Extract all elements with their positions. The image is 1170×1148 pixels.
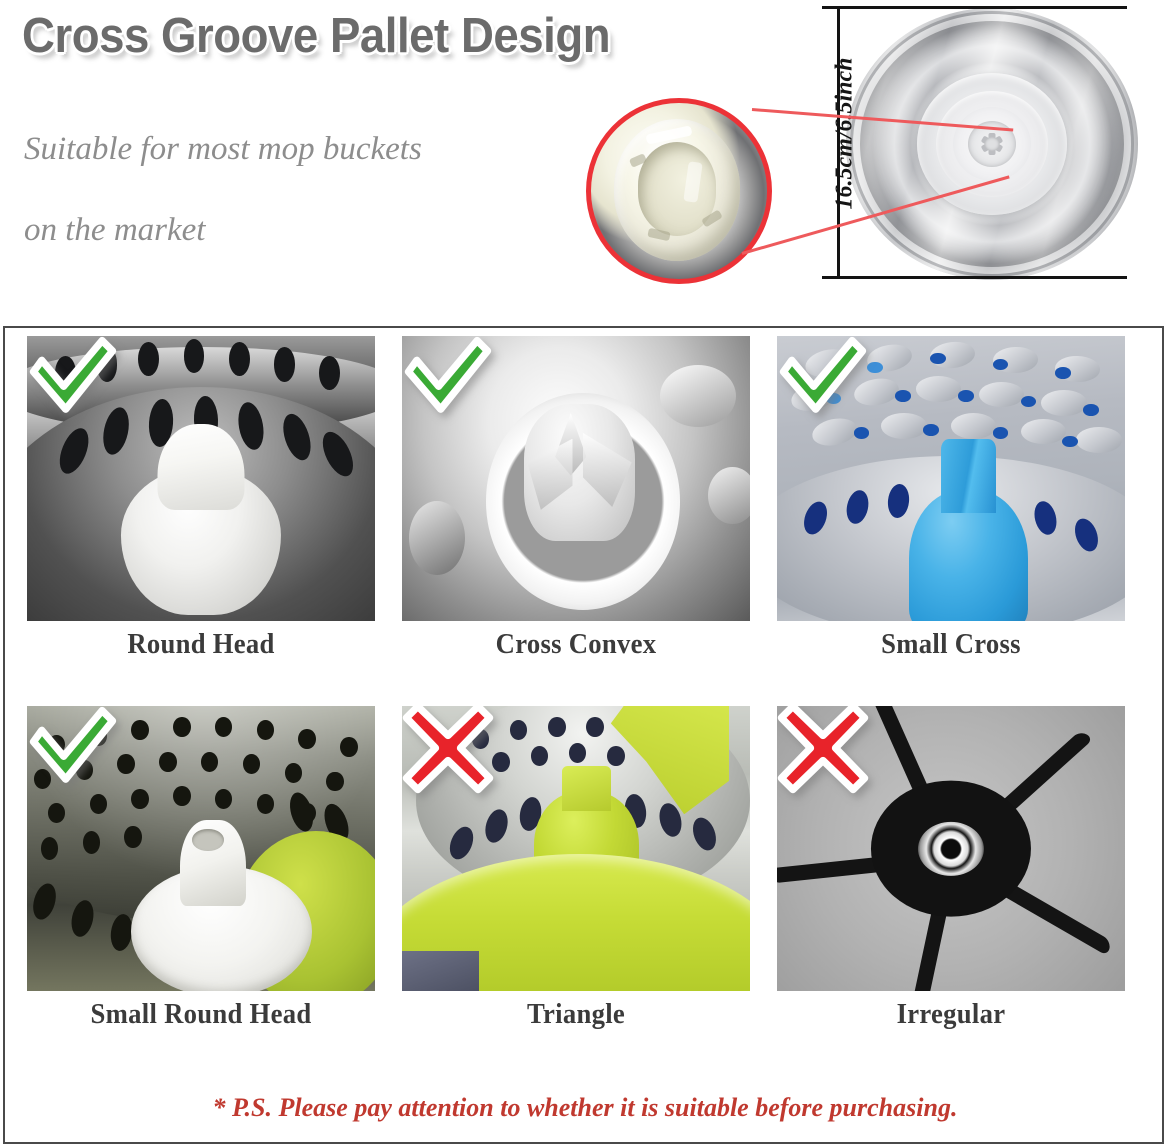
mesh-hole: [124, 826, 141, 849]
cell-label: Round Head: [41, 628, 361, 661]
comparison-cell-cross-convex[interactable]: Cross Convex: [402, 336, 754, 692]
subtitle-line-2: on the market: [24, 212, 205, 249]
bracket-bottom-line: [822, 276, 1127, 279]
mesh-hole: [215, 789, 232, 809]
mesh-hole: [326, 772, 343, 792]
drum-dimple: [881, 413, 926, 439]
cell-label: Small Round Head: [41, 998, 361, 1031]
bracket-top-line: [822, 6, 1127, 9]
drum-hole: [607, 746, 624, 766]
blue-hole: [1083, 404, 1099, 415]
drum-dimple: [979, 382, 1024, 408]
photo-irregular: [777, 706, 1125, 991]
blue-hole: [993, 427, 1009, 438]
triangle-hub-tip: [562, 766, 611, 812]
drum-hole: [548, 717, 565, 737]
comparison-grid: Round Head: [5, 328, 1162, 1068]
photo-cross-convex: [402, 336, 750, 621]
drum-dimple: [708, 467, 750, 524]
magnifier-callout: [586, 98, 772, 284]
drum-dimple: [1041, 390, 1086, 416]
subtitle-line-1: Suitable for most mop buckets: [24, 131, 422, 168]
photo-small-cross: [777, 336, 1125, 621]
drum-hole: [586, 717, 603, 737]
drum-dimple: [951, 413, 996, 439]
mesh-hole: [201, 752, 218, 772]
drum-dimple: [916, 376, 961, 402]
mesh-hole: [173, 717, 190, 737]
bucket-corner: [402, 951, 479, 991]
mesh-hole: [159, 752, 176, 772]
comparison-row: Small Round Head: [5, 698, 1162, 1068]
drum-hole: [138, 342, 159, 376]
cross-icon: [777, 706, 875, 800]
fan-hub-center: [918, 821, 984, 875]
cell-label: Cross Convex: [416, 628, 736, 661]
dimension-bracket: 16.5cm/6.5inch: [820, 0, 1140, 290]
mesh-hole: [285, 763, 302, 783]
header-section: Cross Groove Pallet Design Suitable for …: [0, 0, 1170, 320]
drum-hole: [229, 342, 250, 376]
drum-hole: [531, 746, 548, 766]
mesh-hole: [108, 913, 134, 953]
footer-note: * P.S. Please pay attention to whether i…: [0, 1093, 1170, 1123]
mesh-hole: [41, 837, 58, 860]
blue-hole: [923, 424, 939, 435]
drum-dimple: [1021, 419, 1066, 445]
mesh-hole: [173, 786, 190, 806]
mesh-hole: [131, 789, 148, 809]
blue-hole: [958, 390, 974, 401]
magnifier-ring-icon: [586, 98, 772, 284]
mesh-hole: [298, 729, 315, 749]
blue-hole: [895, 390, 911, 401]
mesh-hole: [83, 831, 100, 854]
photo-small-round-head: [27, 706, 375, 991]
cell-label: Irregular: [791, 998, 1111, 1031]
drum-dimple: [409, 501, 465, 575]
mesh-hole: [340, 737, 357, 757]
comparison-row: Round Head: [5, 328, 1162, 698]
mesh-hole: [131, 720, 148, 740]
comparison-cell-small-round-head[interactable]: Small Round Head: [27, 706, 379, 1062]
cross-icon: [402, 706, 500, 800]
mesh-hole: [48, 803, 65, 823]
check-icon: [27, 706, 125, 800]
cell-label: Small Cross: [791, 628, 1111, 661]
photo-triangle: [402, 706, 750, 991]
comparison-cell-round-head[interactable]: Round Head: [27, 336, 379, 692]
photo-round-head: [27, 336, 375, 621]
blue-hole: [1021, 396, 1037, 407]
comparison-cell-irregular[interactable]: Irregular: [777, 706, 1129, 1062]
blue-hole: [1055, 367, 1071, 378]
blue-hole: [1062, 436, 1078, 447]
drum-hole: [274, 347, 295, 381]
check-icon: [402, 336, 500, 430]
round-head-hub-top: [158, 424, 245, 510]
mesh-hole: [257, 720, 274, 740]
drum-dimple: [660, 365, 737, 428]
cell-label: Triangle: [416, 998, 736, 1031]
small-cross-hub-tip: [941, 439, 997, 513]
comparison-cell-small-cross[interactable]: Small Cross: [777, 336, 1129, 692]
check-icon: [777, 336, 875, 430]
page-title: Cross Groove Pallet Design: [22, 8, 610, 64]
drum-dimple: [1076, 427, 1121, 453]
comparison-panel: Round Head: [3, 326, 1164, 1144]
check-icon: [27, 336, 125, 430]
small-round-head-hole: [192, 829, 223, 852]
comparison-cell-triangle[interactable]: Triangle: [402, 706, 754, 1062]
